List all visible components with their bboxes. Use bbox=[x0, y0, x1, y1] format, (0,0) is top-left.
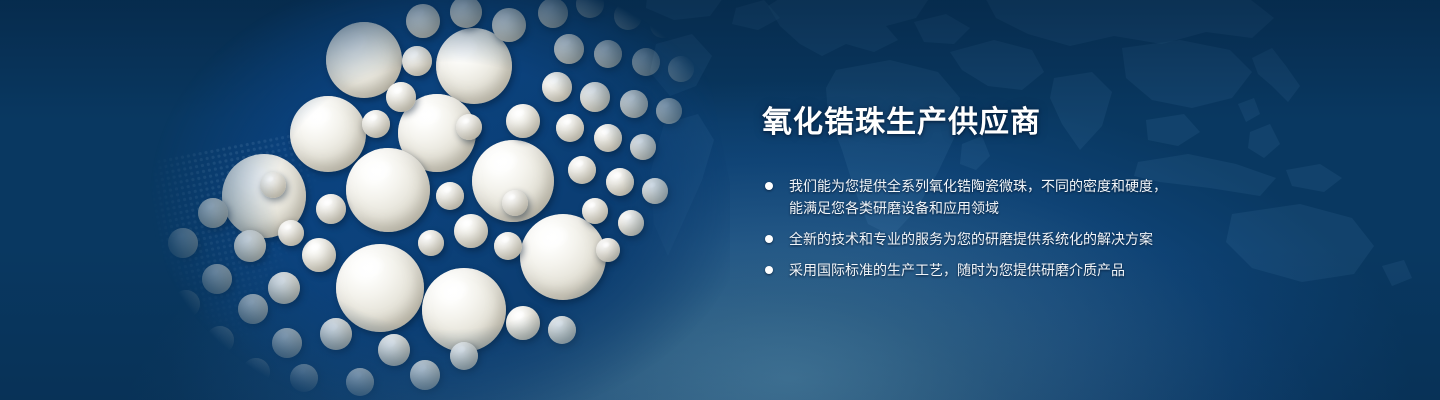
hero-banner: 氧化锆珠生产供应商 我们能为您提供全系列氧化锆陶瓷微珠，不同的密度和硬度， 能满… bbox=[0, 0, 1440, 400]
bullet-dot-icon bbox=[765, 182, 773, 190]
banner-bullet-list: 我们能为您提供全系列氧化锆陶瓷微珠，不同的密度和硬度， 能满足您各类研磨设备和应… bbox=[762, 175, 1232, 281]
banner-headline: 氧化锆珠生产供应商 bbox=[762, 106, 1232, 141]
bullet-text-line2: 能满足您各类研磨设备和应用领域 bbox=[789, 197, 1232, 219]
bullet-dot-icon bbox=[765, 235, 773, 243]
bullet-item: 采用国际标准的生产工艺，随时为您提供研磨介质产品 bbox=[762, 259, 1232, 281]
zirconia-beads-photo bbox=[150, 0, 730, 400]
bullet-item: 全新的技术和专业的服务为您的研磨提供系统化的解决方案 bbox=[762, 228, 1232, 250]
bullet-text-line1: 我们能为您提供全系列氧化锆陶瓷微珠，不同的密度和硬度， bbox=[789, 178, 1167, 194]
bullet-dot-icon bbox=[765, 266, 773, 274]
banner-copy: 氧化锆珠生产供应商 我们能为您提供全系列氧化锆陶瓷微珠，不同的密度和硬度， 能满… bbox=[762, 106, 1232, 290]
bullet-text-line1: 采用国际标准的生产工艺，随时为您提供研磨介质产品 bbox=[789, 262, 1125, 278]
bullet-text-line1: 全新的技术和专业的服务为您的研磨提供系统化的解决方案 bbox=[789, 231, 1153, 247]
bullet-item: 我们能为您提供全系列氧化锆陶瓷微珠，不同的密度和硬度， 能满足您各类研磨设备和应… bbox=[762, 175, 1232, 219]
